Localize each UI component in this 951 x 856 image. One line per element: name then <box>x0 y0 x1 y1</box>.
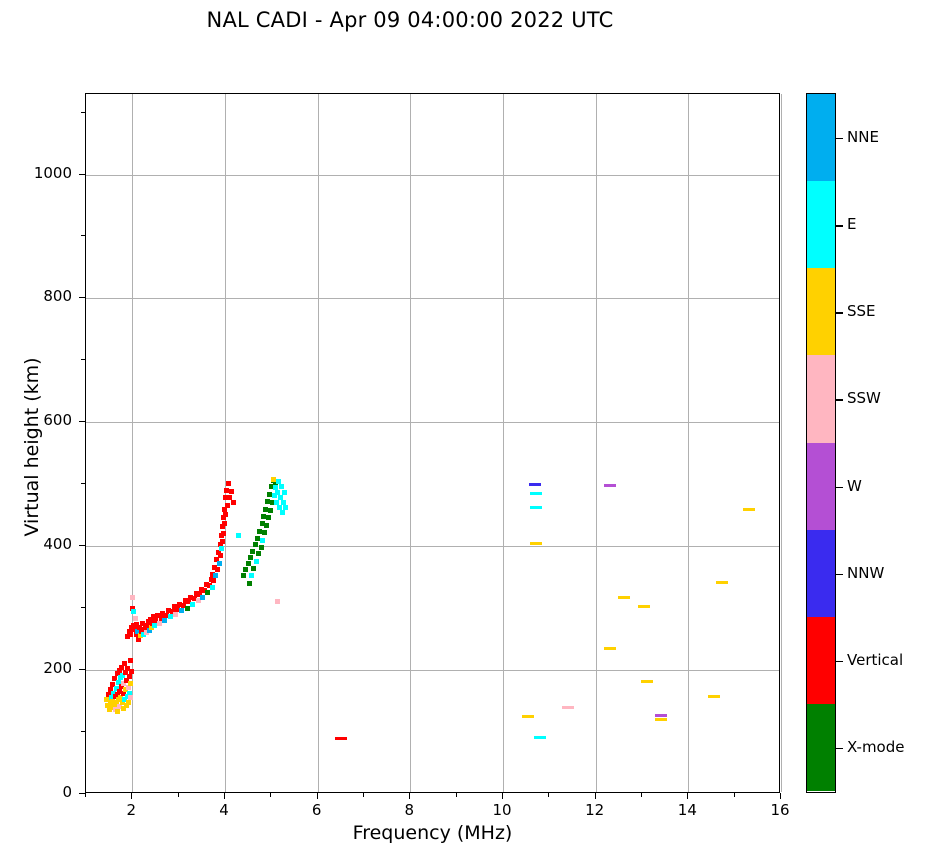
colorbar-tick <box>836 574 843 575</box>
data-point <box>243 567 248 572</box>
data-point <box>522 715 534 718</box>
data-point <box>221 531 226 536</box>
data-point <box>604 484 616 487</box>
colorbar-tick-label-vertical: Vertical <box>847 651 903 669</box>
x-tick-label: 2 <box>101 801 161 819</box>
data-point <box>220 539 225 544</box>
y-tick-minor <box>81 359 85 360</box>
x-tick-minor <box>178 793 179 797</box>
data-point <box>283 505 288 510</box>
y-tick-minor <box>81 607 85 608</box>
data-layer <box>86 94 779 792</box>
colorbar-segment-w <box>807 443 835 530</box>
data-point <box>128 681 133 686</box>
data-point <box>129 669 134 674</box>
data-point <box>222 521 227 526</box>
x-tick-label: 10 <box>472 801 532 819</box>
plot-area <box>85 93 780 793</box>
data-point <box>190 602 195 607</box>
data-point <box>708 695 720 698</box>
x-tick-label: 4 <box>194 801 254 819</box>
y-tick <box>79 174 85 175</box>
x-tick <box>595 793 596 799</box>
x-tick-label: 12 <box>565 801 625 819</box>
x-tick-label: 16 <box>750 801 810 819</box>
colorbar-tick-label-nne: NNE <box>847 128 879 146</box>
data-point <box>223 512 228 517</box>
y-tick-label: 200 <box>0 659 72 677</box>
data-point <box>162 618 167 623</box>
colorbar-tick-label-e: E <box>847 215 856 233</box>
y-tick <box>79 669 85 670</box>
data-point <box>210 585 215 590</box>
colorbar-tick <box>836 661 843 662</box>
data-point <box>185 606 190 611</box>
colorbar-tick-label-nnw: NNW <box>847 564 884 582</box>
x-tick-label: 14 <box>657 801 717 819</box>
data-point <box>335 737 347 740</box>
data-point <box>168 614 173 619</box>
y-tick <box>79 421 85 422</box>
data-point <box>211 578 216 583</box>
data-point <box>655 714 667 717</box>
x-tick-minor <box>734 793 735 797</box>
data-point <box>262 530 267 535</box>
data-point <box>131 609 136 614</box>
data-point <box>225 503 230 508</box>
data-point <box>280 510 285 515</box>
data-point <box>247 581 252 586</box>
data-point <box>127 674 132 679</box>
data-point <box>128 632 133 637</box>
x-tick-minor <box>641 793 642 797</box>
x-tick-minor <box>548 793 549 797</box>
colorbar-tick <box>836 748 843 749</box>
data-point <box>157 621 162 626</box>
y-tick <box>79 545 85 546</box>
data-point <box>266 515 271 520</box>
y-axis-label: Virtual height (km) <box>21 297 43 597</box>
colorbar <box>806 93 836 793</box>
data-point <box>226 481 231 486</box>
data-point <box>246 561 251 566</box>
y-tick-minor <box>81 731 85 732</box>
page-title: NAL CADI - Apr 09 04:00:00 2022 UTC <box>0 8 820 32</box>
data-point <box>534 736 546 739</box>
colorbar-segment-sse <box>807 268 835 355</box>
data-point <box>275 599 280 604</box>
y-tick-label: 0 <box>0 783 72 801</box>
colorbar-tick-label-ssw: SSW <box>847 389 881 407</box>
data-point <box>279 484 284 489</box>
data-point <box>638 605 650 608</box>
gridline-vertical <box>781 94 782 792</box>
data-point <box>255 536 260 541</box>
colorbar-segment-vertical <box>807 617 835 704</box>
x-tick-minor <box>363 793 364 797</box>
colorbar-segment-nnw <box>807 530 835 617</box>
colorbar-segment-ssw <box>807 355 835 442</box>
colorbar-tick <box>836 399 843 400</box>
data-point <box>241 573 246 578</box>
ionogram-figure: NAL CADI - Apr 09 04:00:00 2022 UTC 2468… <box>0 0 951 856</box>
x-tick <box>131 793 132 799</box>
colorbar-tick <box>836 138 843 139</box>
data-point <box>115 709 120 714</box>
colorbar-segment-nne <box>807 94 835 181</box>
data-point <box>128 695 133 700</box>
data-point <box>126 700 131 705</box>
data-point <box>562 706 574 709</box>
data-point <box>253 542 258 547</box>
data-point <box>205 590 210 595</box>
data-point <box>254 559 259 564</box>
data-point <box>249 573 254 578</box>
colorbar-tick <box>836 312 843 313</box>
data-point <box>130 595 135 600</box>
data-point <box>604 647 616 650</box>
data-point <box>133 616 138 621</box>
x-tick <box>409 793 410 799</box>
colorbar-tick-label-sse: SSE <box>847 302 876 320</box>
colorbar-tick-label-w: W <box>847 477 862 495</box>
data-point <box>248 555 253 560</box>
data-point <box>229 489 234 494</box>
y-tick-minor <box>81 112 85 113</box>
colorbar-segment-x-mode <box>807 704 835 791</box>
x-tick-label: 8 <box>379 801 439 819</box>
data-point <box>618 596 630 599</box>
data-point <box>128 658 133 663</box>
data-point <box>259 545 264 550</box>
data-point <box>250 549 255 554</box>
x-tick <box>780 793 781 799</box>
data-point <box>716 581 728 584</box>
data-point <box>217 561 222 566</box>
colorbar-tick <box>836 225 843 226</box>
y-tick <box>79 793 85 794</box>
data-point <box>219 546 224 551</box>
y-tick-minor <box>81 235 85 236</box>
data-point <box>236 533 241 538</box>
data-point <box>743 508 755 511</box>
data-point <box>268 508 273 513</box>
data-point <box>218 553 223 558</box>
data-point <box>530 506 542 509</box>
x-tick <box>224 793 225 799</box>
x-tick <box>317 793 318 799</box>
y-tick-minor <box>81 483 85 484</box>
data-point <box>200 595 205 600</box>
data-point <box>530 492 542 495</box>
x-tick-minor <box>456 793 457 797</box>
data-point <box>231 500 236 505</box>
colorbar-tick <box>836 487 843 488</box>
x-tick <box>502 793 503 799</box>
data-point <box>260 538 265 543</box>
y-tick <box>79 297 85 298</box>
x-tick-minor <box>85 793 86 797</box>
data-point <box>179 608 184 613</box>
x-tick-minor <box>270 793 271 797</box>
data-point <box>256 551 261 556</box>
data-point <box>264 523 269 528</box>
data-point <box>215 567 220 572</box>
data-point <box>173 612 178 617</box>
data-point <box>530 542 542 545</box>
y-tick-label: 1000 <box>0 164 72 182</box>
data-point <box>529 483 541 486</box>
data-point <box>251 566 256 571</box>
data-point <box>282 490 287 495</box>
data-point <box>213 573 218 578</box>
x-tick <box>687 793 688 799</box>
x-axis-label: Frequency (MHz) <box>85 822 780 844</box>
colorbar-segment-e <box>807 181 835 268</box>
data-point <box>655 718 667 721</box>
data-point <box>271 477 276 482</box>
colorbar-tick-label-x-mode: X-mode <box>847 738 904 756</box>
x-tick-label: 6 <box>287 801 347 819</box>
data-point <box>641 680 653 683</box>
